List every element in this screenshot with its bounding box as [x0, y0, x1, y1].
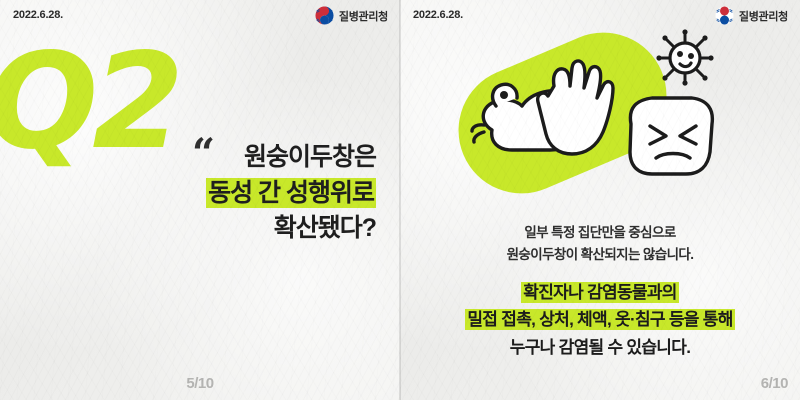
slide-6-brand-label: 질병관리청: [739, 8, 788, 24]
slide-5-panel: 2022.6.28.: [0, 0, 400, 400]
slide-5-question-text: 원숭이두창은 동성 간 성행위로 확산됐다?: [0, 140, 388, 247]
slide-6-header: 2022.6.28.: [400, 0, 800, 34]
illustration-linework: [400, 28, 800, 218]
emphasis-line-1: 확진자나 감염동물과의: [400, 279, 800, 307]
emphasis-line-3: 누구나 감염될 수 있습니다.: [400, 334, 800, 362]
text-spacer: [400, 266, 800, 279]
slide-5-page-number: 5/10: [186, 375, 213, 392]
body-line-2: 원숭이두창이 확산되지는 않습니다.: [400, 244, 800, 266]
rat-hand-pillow-virus-illustration: [400, 28, 800, 218]
slide-6-body-text: 일부 특정 집단만을 중심으로 원숭이두창이 확산되지는 않습니다. 확진자나 …: [400, 222, 800, 361]
slide-5-header: 2022.6.28.: [0, 0, 400, 34]
question-line-1: 원숭이두창은: [0, 140, 376, 176]
emphasis-line-2: 밀접 접촉, 상처, 체액, 옷·침구 등을 통해: [400, 306, 800, 334]
taegeuk-logo-icon: [315, 6, 334, 25]
slide-5-date: 2022.6.28.: [13, 9, 63, 21]
virus-icon: [656, 29, 713, 85]
slide-6-panel: 2022.6.28.: [400, 0, 800, 400]
slide-6-brand: 질병관리청: [715, 6, 788, 25]
pillow-icon: [630, 98, 712, 174]
slide-6-page-number: 6/10: [761, 375, 788, 392]
taegeuk-logo-icon: [715, 6, 734, 25]
slide-6-date: 2022.6.28.: [413, 9, 463, 21]
question-line-3: 확산됐다?: [0, 211, 376, 247]
slide-pair-canvas: 2022.6.28.: [0, 0, 800, 400]
slide-5-brand: 질병관리청: [315, 6, 388, 25]
body-line-1: 일부 특정 집단만을 중심으로: [400, 222, 800, 244]
panel-divider: [399, 0, 401, 400]
question-line-2: 동성 간 성행위로: [0, 176, 376, 212]
hand-icon: [538, 61, 613, 154]
slide-5-brand-label: 질병관리청: [339, 8, 388, 24]
